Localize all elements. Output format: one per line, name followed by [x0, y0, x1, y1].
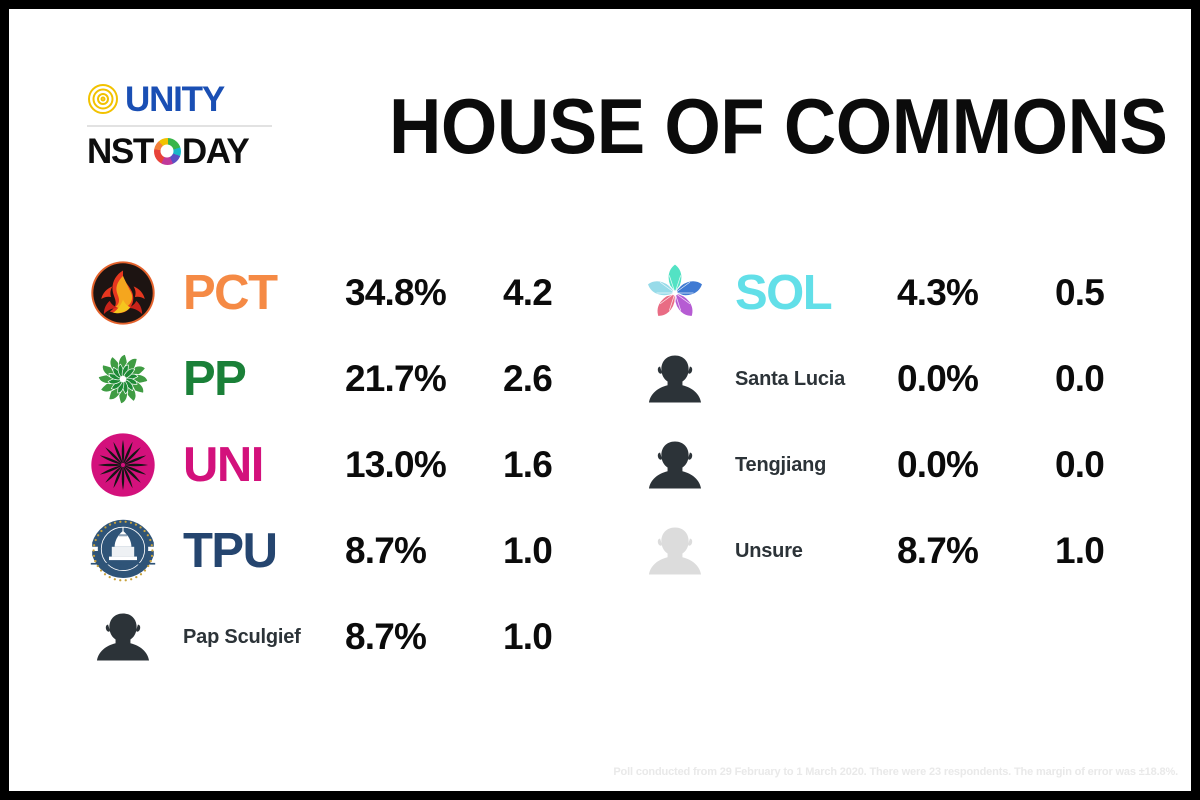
- seats-value: 1.0: [503, 605, 552, 669]
- page-title: HOUSE OF COMMONS: [389, 87, 1096, 165]
- results-column-right: SOL4.3%0.5 Santa Lucia0.0%0.0 Tengjiang0…: [639, 257, 1159, 601]
- person-silhouette-icon: [644, 348, 706, 410]
- party-abbr-label: TPU: [183, 519, 277, 583]
- magenta-starburst-logo: [90, 432, 156, 498]
- result-row: Unsure8.7%1.0: [639, 515, 1159, 601]
- green-pinwheel-logo: [90, 346, 156, 412]
- party-logo: TPU: [87, 515, 159, 587]
- brand-logo: UNITY NST DAY: [87, 79, 277, 171]
- seats-value: 0.5: [1055, 261, 1104, 325]
- percentage-value: 13.0%: [345, 433, 446, 497]
- result-row: Tengjiang0.0%0.0: [639, 429, 1159, 515]
- brand-nstoday-row: NST DAY: [87, 131, 277, 171]
- concentric-circles-icon: [87, 83, 119, 115]
- party-abbr-label: PP: [183, 347, 245, 411]
- seats-value: 2.6: [503, 347, 552, 411]
- brand-day-label: DAY: [182, 134, 248, 169]
- brand-nst-label: NST: [87, 134, 153, 169]
- party-logo: [87, 343, 159, 415]
- capitol-seal-logo: TPU: [88, 516, 158, 586]
- party-logo: [639, 343, 711, 415]
- seats-value: 1.0: [503, 519, 552, 583]
- result-row: TPU TPU8.7%1.0: [87, 515, 607, 601]
- party-logo: [87, 257, 159, 329]
- party-logo: [639, 515, 711, 587]
- party-name-label: Pap Sculgief: [183, 605, 301, 669]
- seats-value: 0.0: [1055, 347, 1104, 411]
- percentage-value: 4.3%: [897, 261, 978, 325]
- svg-text:TPU: TPU: [114, 561, 132, 571]
- color-wheel-icon: [154, 138, 181, 165]
- person-silhouette-icon: [644, 434, 706, 496]
- result-row: Santa Lucia0.0%0.0: [639, 343, 1159, 429]
- percentage-value: 8.7%: [345, 605, 426, 669]
- party-logo: [639, 257, 711, 329]
- seats-value: 4.2: [503, 261, 552, 325]
- seats-value: 1.6: [503, 433, 552, 497]
- result-row: PCT34.8%4.2: [87, 257, 607, 343]
- percentage-value: 0.0%: [897, 347, 978, 411]
- party-logo: [639, 429, 711, 501]
- poster-canvas: UNITY NST DAY HOUSE OF COMMONS PCT: [9, 9, 1191, 791]
- result-row: Pap Sculgief8.7%1.0: [87, 601, 607, 687]
- party-abbr-label: SOL: [735, 261, 831, 325]
- results-column-left: PCT34.8%4.2 PP21.7%2.6 UNI13.0%1.6 TPU: [87, 257, 607, 687]
- party-logo: [87, 429, 159, 501]
- party-name-label: Unsure: [735, 519, 803, 583]
- gradient-flower-logo: [642, 260, 708, 326]
- percentage-value: 0.0%: [897, 433, 978, 497]
- party-abbr-label: UNI: [183, 433, 263, 497]
- seats-value: 1.0: [1055, 519, 1104, 583]
- brand-unity-row: UNITY: [87, 79, 277, 119]
- result-row: UNI13.0%1.6: [87, 429, 607, 515]
- poll-footnote: Poll conducted from 29 February to 1 Mar…: [613, 766, 1178, 778]
- phoenix-logo: [90, 260, 156, 326]
- poster-frame: UNITY NST DAY HOUSE OF COMMONS PCT: [0, 0, 1200, 800]
- percentage-value: 8.7%: [345, 519, 426, 583]
- result-row: PP21.7%2.6: [87, 343, 607, 429]
- party-abbr-label: PCT: [183, 261, 277, 325]
- percentage-value: 21.7%: [345, 347, 446, 411]
- party-name-label: Tengjiang: [735, 433, 826, 497]
- party-name-label: Santa Lucia: [735, 347, 845, 411]
- result-row: SOL4.3%0.5: [639, 257, 1159, 343]
- person-silhouette-icon: [92, 606, 154, 668]
- percentage-value: 8.7%: [897, 519, 978, 583]
- person-silhouette-icon-grey: [644, 520, 706, 582]
- party-logo: [87, 601, 159, 673]
- brand-divider: [87, 125, 272, 127]
- seats-value: 0.0: [1055, 433, 1104, 497]
- brand-unity-label: UNITY: [125, 82, 224, 117]
- percentage-value: 34.8%: [345, 261, 446, 325]
